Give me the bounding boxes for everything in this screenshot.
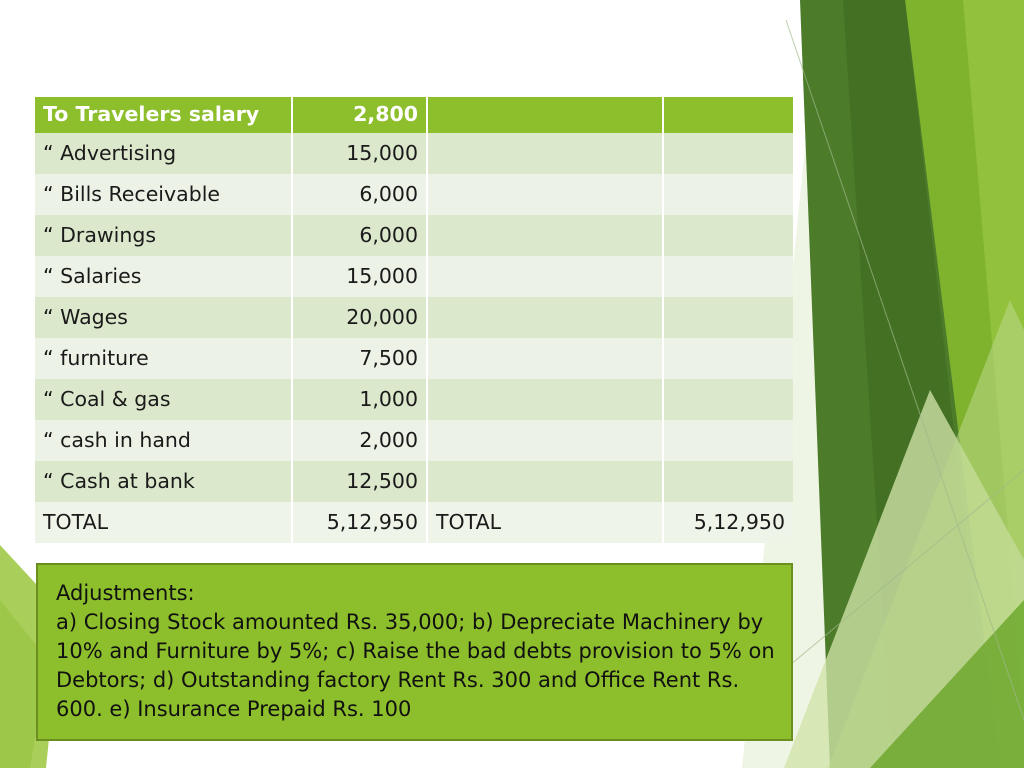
table-row: “ Salaries 15,000 <box>35 256 793 297</box>
header-cell-amount-right <box>663 97 793 133</box>
table-body: To Travelers salary 2,800 “ Advertising … <box>35 97 793 543</box>
cell-description-right <box>427 256 663 297</box>
cell-description: “ Drawings <box>35 215 292 256</box>
cell-description: “ Wages <box>35 297 292 338</box>
table-row: “ cash in hand 2,000 <box>35 420 793 461</box>
table-row: “ Drawings 6,000 <box>35 215 793 256</box>
table-row: “ Advertising 15,000 <box>35 133 793 174</box>
total-cell-amount-right: 5,12,950 <box>663 502 793 543</box>
total-cell-amount: 5,12,950 <box>292 502 427 543</box>
cell-amount-right <box>663 379 793 420</box>
cell-amount: 7,500 <box>292 338 427 379</box>
cell-description: “ Cash at bank <box>35 461 292 502</box>
cell-description: “ Advertising <box>35 133 292 174</box>
cell-description: “ Coal & gas <box>35 379 292 420</box>
cell-amount-right <box>663 338 793 379</box>
cell-amount: 6,000 <box>292 215 427 256</box>
cell-amount: 20,000 <box>292 297 427 338</box>
cell-amount-right <box>663 256 793 297</box>
cell-description-right <box>427 174 663 215</box>
cell-amount-right <box>663 133 793 174</box>
table-header-row: To Travelers salary 2,800 <box>35 97 793 133</box>
cell-amount: 2,000 <box>292 420 427 461</box>
cell-description-right <box>427 379 663 420</box>
cell-description: “ cash in hand <box>35 420 292 461</box>
cell-amount: 1,000 <box>292 379 427 420</box>
cell-description-right <box>427 215 663 256</box>
cell-amount: 15,000 <box>292 133 427 174</box>
table-row: “ Bills Receivable 6,000 <box>35 174 793 215</box>
table-row: “ Wages 20,000 <box>35 297 793 338</box>
cell-description: “ furniture <box>35 338 292 379</box>
cell-amount: 12,500 <box>292 461 427 502</box>
adjustments-title: Adjustments: <box>56 579 775 608</box>
slide-canvas: To Travelers salary 2,800 “ Advertising … <box>0 0 1024 768</box>
cell-amount-right <box>663 215 793 256</box>
cell-description: “ Salaries <box>35 256 292 297</box>
total-cell-description-right: TOTAL <box>427 502 663 543</box>
cell-amount-right <box>663 297 793 338</box>
table-row: “ Coal & gas 1,000 <box>35 379 793 420</box>
table-row: “ Cash at bank 12,500 <box>35 461 793 502</box>
header-cell-description-right <box>427 97 663 133</box>
adjustments-box: Adjustments: a) Closing Stock amounted R… <box>36 563 793 741</box>
cell-description-right <box>427 461 663 502</box>
adjustments-body: a) Closing Stock amounted Rs. 35,000; b)… <box>56 608 775 724</box>
table-total-row: TOTAL 5,12,950 TOTAL 5,12,950 <box>35 502 793 543</box>
header-cell-description: To Travelers salary <box>35 97 292 133</box>
cell-description-right <box>427 420 663 461</box>
cell-amount: 15,000 <box>292 256 427 297</box>
cell-description: “ Bills Receivable <box>35 174 292 215</box>
total-cell-description: TOTAL <box>35 502 292 543</box>
header-cell-amount: 2,800 <box>292 97 427 133</box>
cell-amount: 6,000 <box>292 174 427 215</box>
cell-description-right <box>427 338 663 379</box>
cell-amount-right <box>663 461 793 502</box>
cell-amount-right <box>663 174 793 215</box>
ledger-table: To Travelers salary 2,800 “ Advertising … <box>35 97 793 543</box>
cell-description-right <box>427 133 663 174</box>
cell-description-right <box>427 297 663 338</box>
table-row: “ furniture 7,500 <box>35 338 793 379</box>
cell-amount-right <box>663 420 793 461</box>
